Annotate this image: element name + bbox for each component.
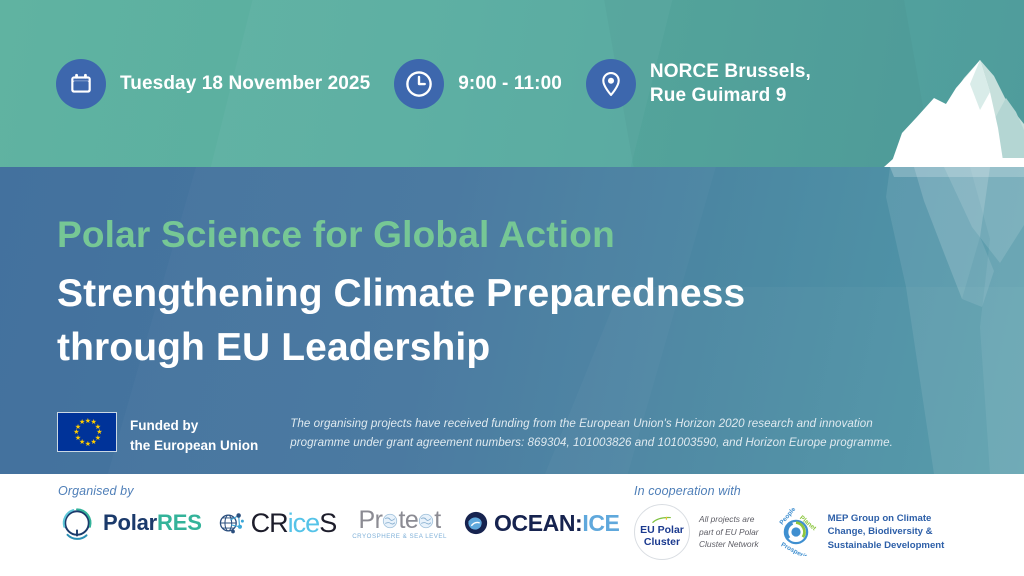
- event-date: Tuesday 18 November 2025: [120, 72, 370, 96]
- logo-crices[interactable]: CRiceS: [218, 508, 337, 539]
- location-pin-icon: [586, 59, 636, 109]
- people-planet-prosperity-icon: People Planet Prosperity: [772, 508, 820, 556]
- polarres-mark-icon: [58, 504, 96, 542]
- logo-eu-polar-cluster[interactable]: EU Polar Cluster All projects are part o…: [634, 504, 759, 560]
- calendar-icon: [56, 59, 106, 109]
- polarres-word-b: RES: [157, 510, 202, 535]
- event-poster: Tuesday 18 November 2025 9:00 - 11:00: [0, 0, 1024, 576]
- protect-word-c: t: [434, 506, 440, 535]
- eu-polar-cluster-note: All projects are part of EU Polar Cluste…: [699, 513, 759, 551]
- title-block: Polar Science for Global Action Strength…: [57, 215, 887, 374]
- logo-protect[interactable]: Pr te t CRYOS: [352, 506, 447, 540]
- eu-polar-cluster-badge: EU Polar Cluster: [634, 504, 690, 560]
- event-meta-row: Tuesday 18 November 2025 9:00 - 11:00: [0, 0, 1024, 167]
- organised-by-label: Organised by: [58, 484, 619, 498]
- logo-polarres[interactable]: PolarRES: [58, 504, 202, 542]
- funding-label: Funded by the European Union: [130, 412, 258, 455]
- main-banner: Polar Science for Global Action Strength…: [0, 167, 1024, 474]
- polarres-wordmark: PolarRES: [103, 510, 202, 536]
- event-eyebrow: Polar Science for Global Action: [57, 215, 887, 256]
- protect-word-a: Pr: [358, 506, 382, 535]
- polarres-word-a: Polar: [103, 510, 157, 535]
- eu-polar-cluster-line1: EU Polar: [640, 525, 684, 537]
- organisers-block: Organised by PolarRES: [58, 484, 619, 542]
- partners-block: In cooperation with EU Polar Cluster All…: [634, 484, 944, 560]
- eu-polar-cluster-line2: Cluster: [644, 537, 680, 549]
- protect-globe-icon: [382, 513, 398, 529]
- eu-flag-icon: ★★★★★★★★★★★★: [57, 412, 117, 452]
- meta-item-date: Tuesday 18 November 2025: [56, 59, 370, 109]
- ocean-ice-wordmark: OCEAN:ICE: [494, 510, 619, 537]
- meta-item-location: NORCE Brussels, Rue Guimard 9: [586, 59, 811, 109]
- funding-disclaimer: The organising projects have received fu…: [290, 412, 893, 453]
- crices-word-c: S: [319, 508, 336, 538]
- mep-group-text: MEP Group on Climate Change, Biodiversit…: [828, 512, 945, 553]
- partner-logo-strip: EU Polar Cluster All projects are part o…: [634, 504, 944, 560]
- clock-icon: [394, 59, 444, 109]
- crices-mark-icon: [218, 508, 248, 538]
- logo-ocean-ice[interactable]: OCEAN:ICE: [463, 510, 619, 537]
- logo-mep-group[interactable]: People Planet Prosperity MEP Group on Cl…: [772, 508, 945, 556]
- ocean-ice-mark-icon: [463, 510, 489, 536]
- top-banner: Tuesday 18 November 2025 9:00 - 11:00: [0, 0, 1024, 167]
- crices-word-a: CR: [251, 508, 288, 538]
- footer-bar: Organised by PolarRES: [0, 474, 1024, 576]
- protect-word-b: te: [398, 506, 418, 535]
- in-cooperation-with-label: In cooperation with: [634, 484, 944, 498]
- organiser-logo-strip: PolarRES: [58, 504, 619, 542]
- crices-wordmark: CRiceS: [251, 508, 337, 539]
- funding-row: ★★★★★★★★★★★★ Funded by the European Unio…: [57, 412, 893, 455]
- event-headline: Strengthening Climate Preparedness throu…: [57, 267, 887, 375]
- ocean-word: OCEAN:: [494, 510, 582, 536]
- event-time: 9:00 - 11:00: [458, 72, 562, 96]
- crices-word-b: ice: [288, 508, 320, 538]
- meta-item-time: 9:00 - 11:00: [394, 59, 562, 109]
- protect-tagline: CRYOSPHERE & SEA LEVEL: [352, 533, 447, 540]
- protect-globe-icon: [418, 513, 434, 529]
- event-location: NORCE Brussels, Rue Guimard 9: [650, 60, 811, 108]
- ice-word: ICE: [582, 510, 619, 536]
